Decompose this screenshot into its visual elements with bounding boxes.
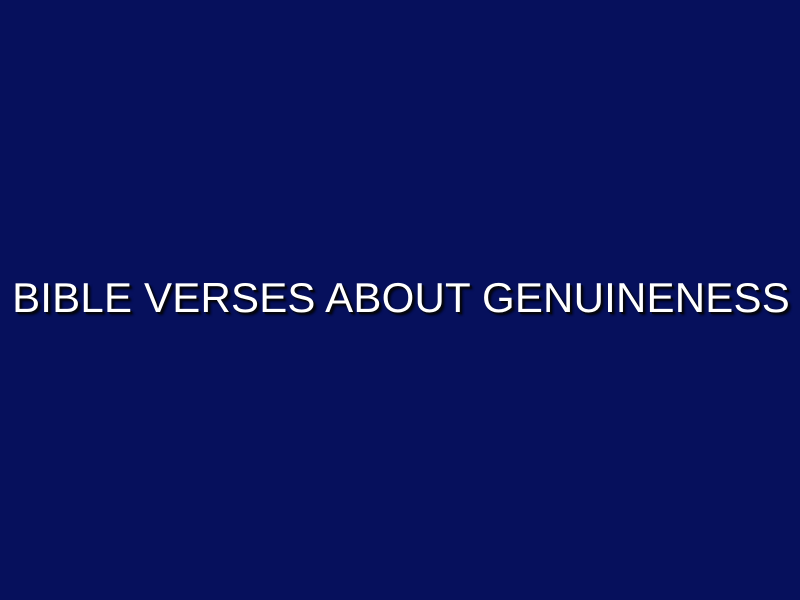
page-title: BIBLE VERSES ABOUT GENUINENESS xyxy=(12,276,790,320)
title-container: BIBLE VERSES ABOUT GENUINENESS xyxy=(0,0,800,600)
title-alignment-wrapper: BIBLE VERSES ABOUT GENUINENESS xyxy=(12,276,790,320)
title-card-canvas: BIBLE VERSES ABOUT GENUINENESS xyxy=(0,0,800,600)
